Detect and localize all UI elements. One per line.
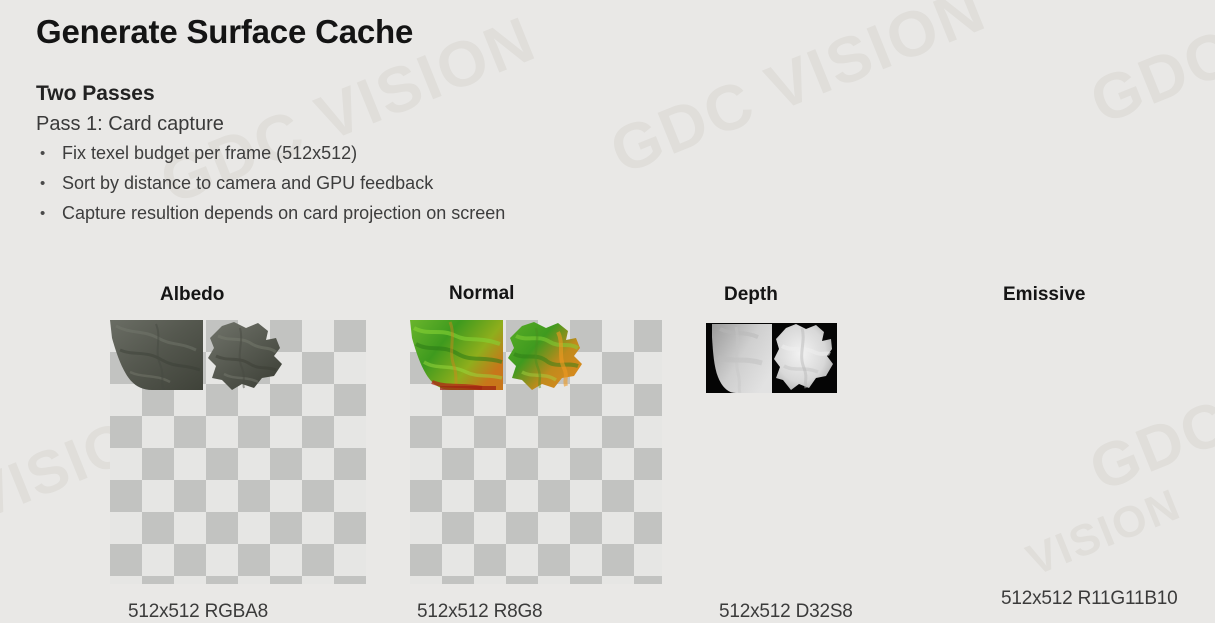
slide-canvas: Generate Surface Cache Two Passes Pass 1… <box>0 0 1215 622</box>
pass-label: Pass 1: Card capture <box>36 113 224 136</box>
bullet-dot-icon: • <box>40 143 62 164</box>
depth-card-sprite-right <box>774 324 834 392</box>
column-header-depth: Depth <box>724 284 778 306</box>
list-item: • Sort by distance to camera and GPU fee… <box>40 173 740 203</box>
column-footer-normal: 512x512 R8G8 <box>417 601 542 623</box>
normal-card-sprite-right <box>506 322 586 392</box>
column-header-albedo: Albedo <box>160 284 224 306</box>
bullet-list: • Fix texel budget per frame (512x512) •… <box>40 143 740 233</box>
bullet-dot-icon: • <box>40 173 62 194</box>
column-footer-emissive: 512x512 R11G11B10 <box>1001 588 1178 610</box>
depth-card-sprite-left <box>706 323 772 393</box>
normal-card-sprite-left <box>410 320 503 390</box>
list-item-label: Sort by distance to camera and GPU feedb… <box>62 173 433 194</box>
depth-atlas-panel <box>706 323 837 393</box>
list-item-label: Capture resultion depends on card projec… <box>62 203 505 224</box>
list-item: • Capture resultion depends on card proj… <box>40 203 740 233</box>
albedo-card-sprite-right <box>206 322 286 392</box>
column-header-emissive: Emissive <box>1003 284 1085 306</box>
section-subheading: Two Passes <box>36 82 155 106</box>
list-item: • Fix texel budget per frame (512x512) <box>40 143 740 173</box>
normal-atlas-panel <box>410 320 662 584</box>
emissive-atlas-panel <box>1003 320 1193 584</box>
column-footer-albedo: 512x512 RGBA8 <box>128 601 268 623</box>
albedo-atlas-panel <box>110 320 366 584</box>
column-header-normal: Normal <box>449 283 514 305</box>
list-item-label: Fix texel budget per frame (512x512) <box>62 143 357 164</box>
albedo-card-sprite-left <box>110 320 203 390</box>
column-footer-depth: 512x512 D32S8 <box>719 601 853 623</box>
page-title: Generate Surface Cache <box>36 13 413 51</box>
bullet-dot-icon: • <box>40 203 62 224</box>
